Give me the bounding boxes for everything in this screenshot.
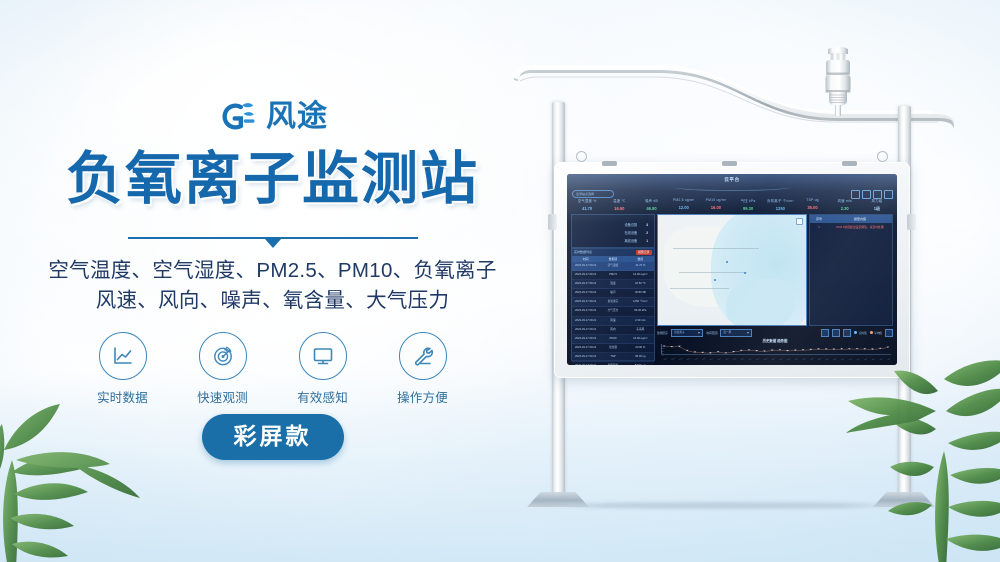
table-cell: 35.00 ug [627, 353, 654, 361]
feature-item-fast-observation: 快速观测 [191, 332, 254, 406]
feature-label: 快速观测 [197, 387, 248, 406]
svg-text:03-13: 03-13 [740, 358, 745, 360]
kpi-label: 负氧离子 个/cm³ [764, 198, 796, 203]
table-cell: 2023-03-17 09:21 [572, 362, 599, 365]
table-row[interactable]: 2023-03-17 09:21氧含量20.90 % [572, 344, 654, 353]
kpi-value: 1级 [861, 206, 893, 212]
table-cell: 大气压力 [599, 307, 626, 315]
svg-text:03-16: 03-16 [818, 358, 823, 360]
table-row[interactable]: 2023-03-17 09:21空气湿度41.70 % [572, 262, 654, 271]
kpi-value: 16.50 [603, 206, 635, 211]
chart-export-button[interactable] [885, 329, 893, 337]
svg-text:03-10: 03-10 [679, 358, 684, 360]
chart-plot: 03-1003-1003-1003-1103-1103-1103-1203-12… [661, 344, 891, 361]
alarm-header: 序号 报警内容 [810, 215, 892, 223]
table-row[interactable]: 2023-03-17 09:21负氧离子1250 个/cm³ [572, 298, 654, 307]
table-cell: 2.30 m/s [627, 317, 654, 325]
table-cell: 2023-03-17 09:21 [572, 326, 599, 334]
table-cell: 风速 [599, 317, 626, 325]
table-cell: 2023-03-17 09:21 [572, 298, 599, 306]
chart-factor-label: 监测因子 [657, 331, 668, 335]
mount-bracket-2 [722, 161, 737, 166]
ultrasonic-weather-sensor-icon [817, 44, 859, 118]
feature-item-realtime-data: 实时数据 [91, 332, 154, 406]
kpi-item: 风速 m/s2.30 [829, 198, 861, 212]
line-chart-icon [99, 332, 147, 380]
feature-list: 实时数据 快速观测 [0, 332, 545, 406]
chart-legend-average: 平均值 [870, 331, 882, 335]
svg-text:03-16: 03-16 [810, 358, 815, 360]
svg-text:1200: 1200 [661, 351, 665, 352]
svg-text:400: 400 [661, 355, 664, 356]
chart-legend-realtime: 实时值 [854, 331, 866, 335]
cta-row: 彩屏款 [0, 414, 545, 460]
feature-label: 操作方便 [397, 387, 448, 406]
chart-toolbar: 监测因子 负氧离子 时间范围 近一周 [657, 328, 893, 337]
table-cell: 温度 [599, 280, 626, 288]
kpi-value: 1250 [764, 206, 796, 211]
chart-range-label: 时间范围 [706, 331, 717, 335]
svg-text:03-14: 03-14 [764, 358, 769, 360]
table-cell: 2023-03-17 09:21 [572, 289, 599, 297]
table-cell: 风向 [599, 326, 626, 334]
svg-text:03-13: 03-13 [748, 358, 753, 360]
table-row[interactable]: 2023-03-17 09:21温度16.50 ℃ [572, 280, 654, 289]
kpi-item: 噪声 dB46.80 [635, 198, 667, 212]
alarm-content: PM2.5浓度超出设定阈值，请及时处理 [828, 225, 892, 229]
table-cell: 8200 Lux [627, 362, 654, 365]
chart-title: 历史数据 趋势图 [657, 338, 893, 343]
kpi-item: 负氧离子 个/cm³1250 [764, 198, 796, 212]
table-cell: 2023-03-17 09:21 [572, 344, 599, 352]
table-cell: PM2.5 [599, 271, 626, 279]
map-zoom-control[interactable] [796, 218, 803, 225]
svg-text:03-17: 03-17 [879, 358, 884, 360]
kpi-item: 温度 ℃16.50 [603, 198, 635, 212]
svg-text:03-10: 03-10 [663, 358, 668, 360]
kpi-value: 35.00 [796, 205, 828, 210]
hinge-right [907, 214, 916, 230]
feature-item-easy-operation: 操作方便 [391, 332, 454, 406]
svg-text:03-14: 03-14 [756, 358, 761, 360]
svg-text:03-12: 03-12 [717, 358, 722, 360]
svg-text:03-17: 03-17 [872, 358, 877, 360]
svg-text:03-17: 03-17 [887, 358, 891, 360]
device-stat-value: 2 [646, 231, 648, 235]
mount-hook-right [877, 151, 888, 162]
mount-hook-left [576, 151, 587, 162]
kpi-row: 空气湿度 %41.70温度 ℃16.50噪声 dB46.80PM2.5 ug/m… [571, 198, 893, 212]
kpi-label: 温度 ℃ [603, 198, 635, 203]
table-cell: 2023-03-17 09:21 [572, 280, 599, 288]
subtitle: 空气温度、空气湿度、PM2.5、PM10、负氧离子 风速、风向、噪声、氧含量、大… [0, 256, 545, 315]
svg-text:03-11: 03-11 [694, 358, 699, 360]
hinge-left [548, 214, 557, 230]
table-header: 实时数据列表 报警记录 [572, 249, 654, 256]
chart-view-line-button[interactable] [821, 329, 829, 337]
brand-name: 风途 [266, 102, 328, 132]
display-enclosure: 云平台 监测站点选择 空气湿度 %41.70温度 ℃16.50噪声 dB46.8… [554, 162, 910, 378]
alarm-col-content: 报警内容 [828, 215, 892, 223]
kpi-value: 12.00 [668, 205, 700, 210]
feature-item-effective-sensing: 有效感知 [291, 332, 354, 406]
table-title: 实时数据列表 [574, 250, 592, 254]
hero-text-panel: 风途 负氧离子监测站 空气温度、空气湿度、PM2.5、PM10、负氧离子 风速、… [0, 0, 545, 562]
kpi-label: 气压 kPa [732, 198, 764, 203]
kpi-item: PM10 ug/m³16.00 [700, 198, 732, 212]
page-title: 负氧离子监测站 [0, 150, 545, 210]
station-selector[interactable]: 监测站点选择 [572, 190, 614, 198]
svg-text:03-12: 03-12 [710, 358, 715, 360]
svg-text:03-17: 03-17 [848, 358, 853, 360]
svg-text:03-10: 03-10 [671, 358, 676, 360]
chart-view-bar-button[interactable] [832, 329, 840, 337]
lcd-screen[interactable]: 云平台 监测站点选择 空气湿度 %41.70温度 ℃16.50噪声 dB46.8… [567, 174, 897, 365]
table-cell: 46.80 dB [627, 289, 654, 297]
device-stat-row: 离线设备1 [624, 238, 648, 243]
svg-text:03-15: 03-15 [787, 358, 792, 360]
svg-text:800: 800 [661, 353, 664, 354]
table-cell: 光照强度 [599, 362, 626, 365]
table-cell: 2023-03-17 09:21 [572, 271, 599, 279]
kpi-item: PM2.5 ug/m³12.00 [668, 198, 700, 212]
device-stat-row: 设备总数3 [624, 222, 648, 227]
station-selector-label: 监测站点选择 [576, 192, 594, 196]
svg-text:03-14: 03-14 [771, 358, 776, 360]
kpi-item: 气压 kPa99.30 [732, 198, 764, 212]
table-cell: 2023-03-17 09:21 [572, 317, 599, 325]
kpi-value: 41.70 [571, 206, 603, 211]
brand-logo: 风途 [0, 100, 545, 134]
header-wave-decoration [673, 183, 792, 191]
china-region-map[interactable] [657, 214, 807, 326]
device-stat-label: 在线设备 [624, 231, 637, 235]
subtitle-line-2: 风速、风向、噪声、氧含量、大气压力 [0, 286, 545, 316]
kpi-label: PM2.5 ug/m³ [668, 198, 700, 202]
table-body: 2023-03-17 09:21空气湿度41.70 %2023-03-17 09… [572, 262, 654, 360]
table-cell: 2023-03-17 09:21 [572, 335, 599, 343]
history-trend-chart: 03-1003-1003-1003-1103-1103-1103-1203-12… [661, 344, 891, 361]
kpi-label: 风力级 [861, 198, 893, 203]
alarm-col-index: 序号 [810, 215, 828, 223]
device-stat-value: 3 [646, 223, 648, 227]
chart-factor-select[interactable]: 负氧离子 [671, 329, 703, 337]
kpi-value: 16.00 [700, 205, 732, 210]
table-row[interactable]: 2023-03-17 09:21PM1016.00 ug/m³ [572, 335, 654, 344]
chart-view-table-button[interactable] [843, 329, 851, 337]
device-stat-label: 设备总数 [624, 223, 637, 227]
device-stat-value: 1 [646, 239, 648, 243]
svg-text:03-11: 03-11 [686, 358, 691, 360]
table-cell: 2023-03-17 09:21 [572, 353, 599, 361]
legend-label: 平均值 [874, 331, 882, 335]
table-cell: 99.30 kPa [627, 307, 654, 315]
table-row[interactable]: 2023-03-17 09:21TSP35.00 ug [572, 353, 654, 362]
feature-label: 实时数据 [97, 387, 148, 406]
kpi-value: 46.80 [635, 206, 667, 211]
kpi-label: TSP ug [796, 198, 828, 202]
svg-text:03-12: 03-12 [725, 358, 730, 360]
table-cell: 20.90 % [627, 344, 654, 352]
table-cell: TSP [599, 353, 626, 361]
feature-label: 有效感知 [297, 387, 348, 406]
kpi-label: 噪声 dB [635, 198, 667, 203]
alarm-panel: 序号 报警内容 1 PM2.5浓度超出设定阈值，请及时处理 [809, 214, 893, 326]
table-cell: 噪声 [599, 289, 626, 297]
table-cell: 负氧离子 [599, 298, 626, 306]
map-border-line [679, 272, 747, 273]
monitor-icon [299, 332, 347, 380]
alarm-records-badge[interactable]: 报警记录 [636, 250, 652, 255]
mount-bracket-3 [842, 161, 857, 166]
alarm-row: 1 PM2.5浓度超出设定阈值，请及时处理 [810, 223, 892, 230]
device-stats-panel: 设备总数3在线设备2离线设备1 [571, 214, 655, 248]
svg-text:03-17: 03-17 [833, 358, 838, 360]
device-stat-row: 在线设备2 [624, 230, 648, 235]
svg-text:03-11: 03-11 [702, 358, 707, 360]
canopy-roof [508, 58, 958, 138]
table-row[interactable]: 2023-03-17 09:21大气压力99.30 kPa [572, 307, 654, 316]
map-sea-south [726, 279, 794, 326]
table-cell: 东南风 [627, 326, 654, 334]
svg-text:03-17: 03-17 [825, 358, 830, 360]
svg-text:03-16: 03-16 [802, 358, 807, 360]
table-cell: 氧含量 [599, 344, 626, 352]
map-border-line [670, 288, 729, 289]
radar-scan-icon [199, 332, 247, 380]
subtitle-line-1: 空气温度、空气湿度、PM2.5、PM10、负氧离子 [0, 256, 545, 286]
table-cell: 12.00 ug/m³ [627, 271, 654, 279]
svg-text:1600: 1600 [661, 348, 665, 349]
table-row[interactable]: 2023-03-17 09:21风速2.30 m/s [572, 317, 654, 326]
svg-text:03-15: 03-15 [794, 358, 799, 360]
wrench-icon [399, 332, 447, 380]
table-cell: 41.70 % [627, 262, 654, 270]
divider-triangle-icon [265, 239, 281, 248]
poster-canvas: 风途 负氧离子监测站 空气温度、空气湿度、PM2.5、PM10、负氧离子 风速、… [0, 0, 1000, 562]
table-cell: 16.00 ug/m³ [627, 335, 654, 343]
table-row[interactable]: 2023-03-17 09:21噪声46.80 dB [572, 289, 654, 298]
device-stat-label: 离线设备 [624, 239, 637, 243]
table-row[interactable]: 2023-03-17 09:21PM2.512.00 ug/m³ [572, 271, 654, 280]
table-cell: 2023-03-17 09:21 [572, 262, 599, 270]
kpi-label: PM10 ug/m³ [700, 198, 732, 202]
kpi-value: 99.30 [732, 206, 764, 211]
cloud-platform-dashboard: 云平台 监测站点选择 空气湿度 %41.70温度 ℃16.50噪声 dB46.8… [567, 174, 897, 365]
svg-text:03-17: 03-17 [856, 358, 861, 360]
kpi-label: 风速 m/s [829, 198, 861, 203]
color-screen-model-button[interactable]: 彩屏款 [202, 414, 344, 460]
table-cell: 16.50 ℃ [627, 280, 654, 288]
kpi-item: 空气湿度 %41.70 [571, 198, 603, 212]
table-row[interactable]: 2023-03-17 09:21风向东南风 [572, 326, 654, 335]
map-border-line [673, 248, 759, 249]
title-divider [0, 234, 545, 248]
realtime-data-table: 实时数据列表 报警记录 时间数据项数值 2023-03-17 09:21空气湿度… [571, 248, 655, 361]
kpi-value: 2.30 [829, 206, 861, 211]
kpi-item: 风力级1级 [861, 198, 893, 212]
ground-shadow [538, 502, 908, 509]
svg-text:03-17: 03-17 [864, 358, 869, 360]
alarm-index: 1 [810, 225, 828, 229]
kpi-label: 空气湿度 % [571, 198, 603, 203]
monitoring-station-illustration: 云平台 监测站点选择 空气湿度 %41.70温度 ℃16.50噪声 dB46.8… [498, 40, 966, 530]
leaf-g-logo-icon [217, 100, 259, 134]
chart-factor-value: 负氧离子 [674, 330, 684, 334]
legend-label: 实时值 [859, 331, 867, 335]
table-cell: PM10 [599, 335, 626, 343]
chart-range-select[interactable]: 近一周 [720, 329, 752, 337]
table-cell: 2023-03-17 09:21 [572, 307, 599, 315]
mount-bracket-1 [602, 161, 617, 166]
table-cell: 1250 个/cm³ [627, 298, 654, 306]
kpi-item: TSP ug35.00 [796, 198, 828, 212]
table-cell: 空气湿度 [599, 262, 626, 270]
svg-text:03-17: 03-17 [841, 358, 846, 360]
table-row[interactable]: 2023-03-17 09:21光照强度8200 Lux [572, 362, 654, 365]
chart-range-value: 近一周 [723, 330, 731, 334]
svg-text:03-13: 03-13 [733, 358, 738, 360]
dashboard-title: 云平台 [567, 177, 897, 183]
svg-text:03-15: 03-15 [779, 358, 784, 360]
